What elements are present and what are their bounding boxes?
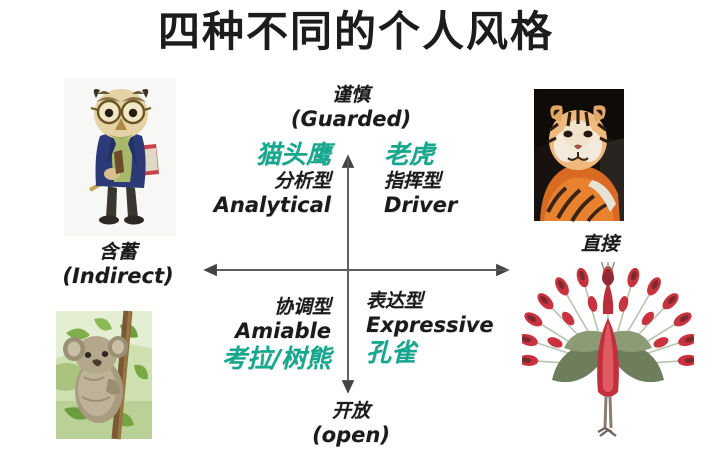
quadrant-label-top-left: 猫头鹰 分析型 Analytical [186, 140, 331, 218]
axis-pole-left-en: (Indirect) [38, 264, 198, 289]
quadrant-style-en-amiable: Amiable [176, 319, 331, 344]
koala-image [50, 305, 158, 445]
quadrant-style-en-expressive: Expressive [366, 313, 526, 338]
quadrant-style-cn-expressive: 表达型 [366, 290, 526, 313]
peacock-image [522, 262, 694, 462]
axis-pole-top-cn: 谨慎 [266, 84, 436, 107]
tiger-image [530, 84, 628, 226]
axis-pole-right-cn: 直接 [540, 233, 660, 256]
owl-image [64, 78, 176, 236]
axis-pole-top-en: (Guarded) [266, 107, 436, 132]
quadrant-label-top-right: 老虎 指挥型 Driver [384, 140, 514, 218]
quadrant-style-en-driver: Driver [384, 193, 514, 218]
quadrant-animal-owl: 猫头鹰 [186, 140, 331, 170]
axis-pole-left: 含蓄 (Indirect) [38, 241, 198, 289]
quadrant-style-cn-driver: 指挥型 [384, 170, 514, 193]
page-title: 四种不同的个人风格 [0, 4, 712, 60]
axis-pole-bottom: 开放 (open) [266, 400, 436, 448]
quadrant-label-bottom-right: 表达型 Expressive 孔雀 [366, 290, 526, 368]
quadrant-animal-tiger: 老虎 [384, 140, 514, 170]
quadrant-style-cn-analytical: 分析型 [186, 170, 331, 193]
quadrant-label-bottom-left: 协调型 Amiable 考拉/树熊 [176, 296, 331, 374]
quadrant-style-en-analytical: Analytical [186, 193, 331, 218]
axis-pole-bottom-cn: 开放 [266, 400, 436, 423]
diagram-canvas: 四种不同的个人风格 [0, 0, 712, 470]
quadrant-animal-koala: 考拉/树熊 [176, 344, 331, 374]
axis-pole-left-cn: 含蓄 [38, 241, 198, 264]
axis-pole-right: 直接 [540, 233, 660, 256]
quadrant-animal-peacock: 孔雀 [366, 338, 526, 368]
axis-pole-bottom-en: (open) [266, 423, 436, 448]
quadrant-style-cn-amiable: 协调型 [176, 296, 331, 319]
axis-pole-top: 谨慎 (Guarded) [266, 84, 436, 132]
